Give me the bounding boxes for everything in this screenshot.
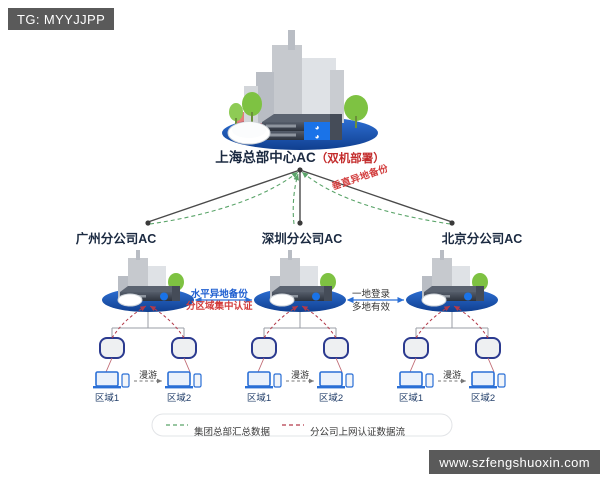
hq-name: 上海总部中心AC	[215, 150, 316, 165]
roaming-label-1: 漫游	[280, 368, 320, 381]
zone-label-1-1: 区域1	[237, 390, 281, 404]
annotation-single-login-line2: 多地有效	[352, 302, 390, 315]
zone-label-0-1: 区域1	[85, 390, 129, 404]
zone-label-2-2: 区域2	[461, 390, 505, 404]
branch-title-beijing: 北京分公司AC	[402, 228, 562, 247]
zone-label-1-2: 区域2	[309, 390, 353, 404]
annotation-zone-central-auth: 分区域集中认证	[186, 301, 253, 313]
roaming-label-2: 漫游	[432, 368, 472, 381]
svg-text:◕: ◕	[315, 132, 320, 141]
annotation-single-login-line1: 一地登录	[352, 289, 390, 302]
branch-title-guangzhou: 广州分公司AC	[36, 228, 196, 247]
annotation-horizontal-backup: 水平异地备份	[186, 289, 253, 301]
annotation-horizontal-backup-group: 水平异地备份 分区域集中认证	[186, 289, 253, 313]
roaming-label-0: 漫游	[128, 368, 168, 381]
diagram-canvas: ◕ ◕	[0, 0, 600, 480]
page-title: 上海总部中心AC（双机部署）	[0, 146, 600, 166]
branch-node-1	[254, 250, 346, 312]
watermark-top-left: TG: MYYJJPP	[8, 8, 114, 30]
branch-title-shenzhen: 深圳分公司AC	[222, 228, 382, 247]
branch-node-0	[102, 250, 194, 312]
branch-node-2	[406, 250, 498, 312]
hq-branch-links	[148, 170, 452, 222]
legend-label-branch-auth-flow: 分公司上网认证数据流	[310, 424, 405, 438]
legend-label-hq-aggregate: 集团总部汇总数据	[194, 424, 270, 438]
hq-illustration: ◕ ◕	[222, 30, 378, 150]
svg-text:◕: ◕	[315, 123, 320, 132]
watermark-bottom-right: www.szfengshuoxin.com	[429, 450, 600, 474]
zone-label-2-1: 区域1	[389, 390, 433, 404]
annotation-single-login-group: 一地登录 多地有效	[352, 289, 390, 314]
zone-label-0-2: 区域2	[157, 390, 201, 404]
